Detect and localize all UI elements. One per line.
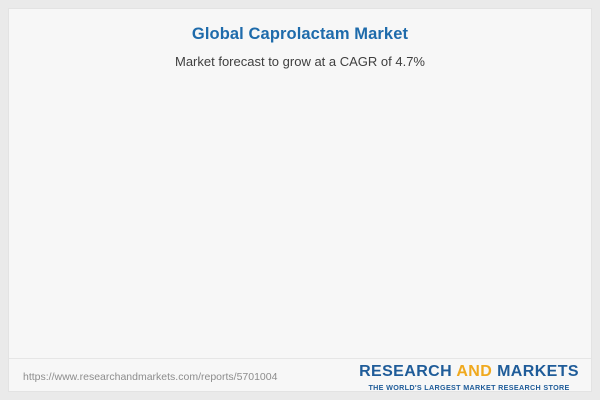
- research-and-markets-logo[interactable]: RESEARCH AND MARKETS THE WORLD'S LARGEST…: [359, 363, 579, 392]
- logo-word-and: AND: [456, 363, 492, 380]
- logo-wordmark: RESEARCH AND MARKETS: [359, 363, 579, 381]
- chart-footer: https://www.researchandmarkets.com/repor…: [9, 359, 592, 392]
- logo-word-research: RESEARCH: [359, 363, 452, 380]
- logo-tagline: THE WORLD'S LARGEST MARKET RESEARCH STOR…: [359, 383, 579, 392]
- source-url-link[interactable]: https://www.researchandmarkets.com/repor…: [23, 371, 277, 383]
- chart-card: Global Caprolactam Market Market forecas…: [8, 8, 592, 392]
- logo-word-markets: MARKETS: [497, 363, 579, 380]
- plot-area: Billion 15.3 Billion 2021 Billion 20.2 B…: [9, 9, 592, 349]
